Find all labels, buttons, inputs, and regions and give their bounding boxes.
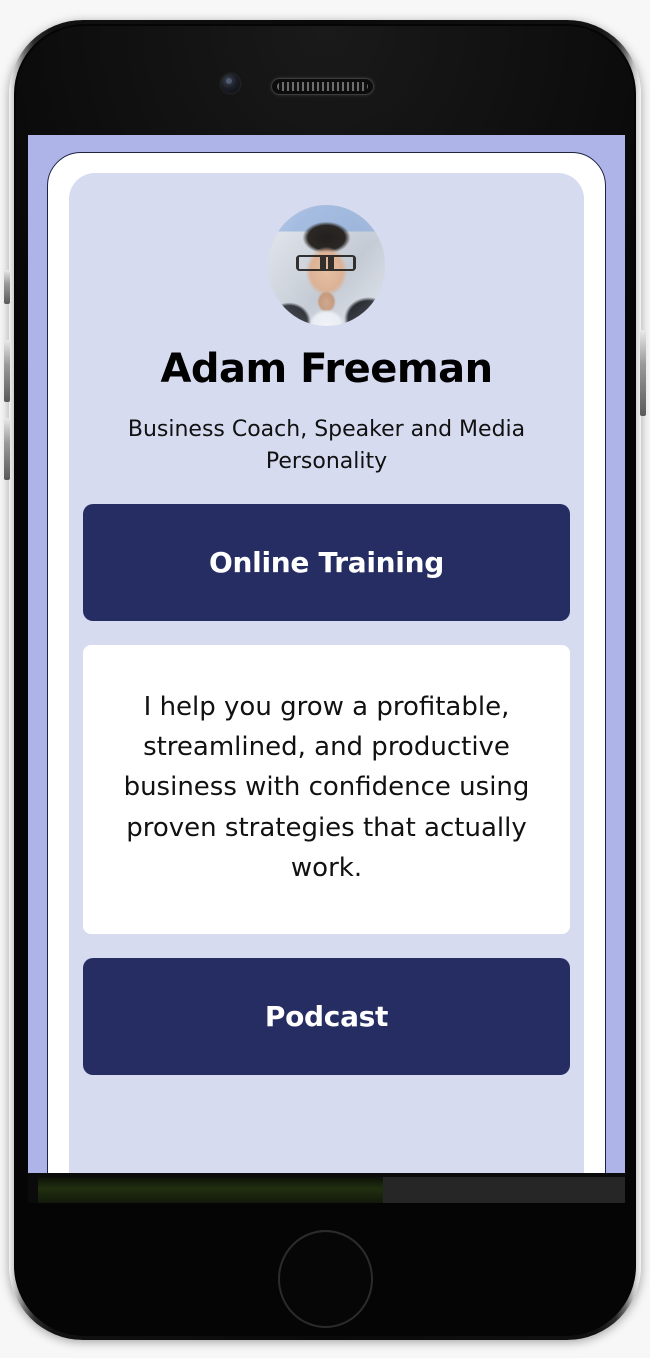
volume-up-button[interactable] xyxy=(4,340,10,402)
bio-text: I help you grow a profitable, streamline… xyxy=(105,687,548,888)
profile-tagline: Business Coach, Speaker and Media Person… xyxy=(83,414,570,478)
background-image-fragment xyxy=(38,1177,383,1203)
avatar xyxy=(268,205,385,326)
bio-card: I help you grow a profitable, streamline… xyxy=(83,645,570,934)
background-fill-fragment xyxy=(383,1177,625,1203)
profile-card: Adam Freeman Business Coach, Speaker and… xyxy=(69,173,584,1173)
mute-switch[interactable] xyxy=(4,270,10,304)
below-viewport-strip xyxy=(28,1173,625,1203)
earpiece-speaker-icon xyxy=(271,78,374,95)
front-camera-icon xyxy=(221,74,240,93)
online-training-button[interactable]: Online Training xyxy=(83,504,570,621)
power-button[interactable] xyxy=(640,330,646,416)
phone-screen: Adam Freeman Business Coach, Speaker and… xyxy=(28,135,625,1173)
podcast-button[interactable]: Podcast xyxy=(83,958,570,1075)
link-in-bio-container: Adam Freeman Business Coach, Speaker and… xyxy=(47,152,606,1173)
home-button[interactable] xyxy=(278,1230,373,1328)
page-title: Adam Freeman xyxy=(83,348,570,390)
avatar-photo xyxy=(268,205,385,326)
screenshot-stage: Adam Freeman Business Coach, Speaker and… xyxy=(0,0,650,1358)
volume-down-button[interactable] xyxy=(4,418,10,480)
profile-card-content: Adam Freeman Business Coach, Speaker and… xyxy=(69,173,584,1139)
